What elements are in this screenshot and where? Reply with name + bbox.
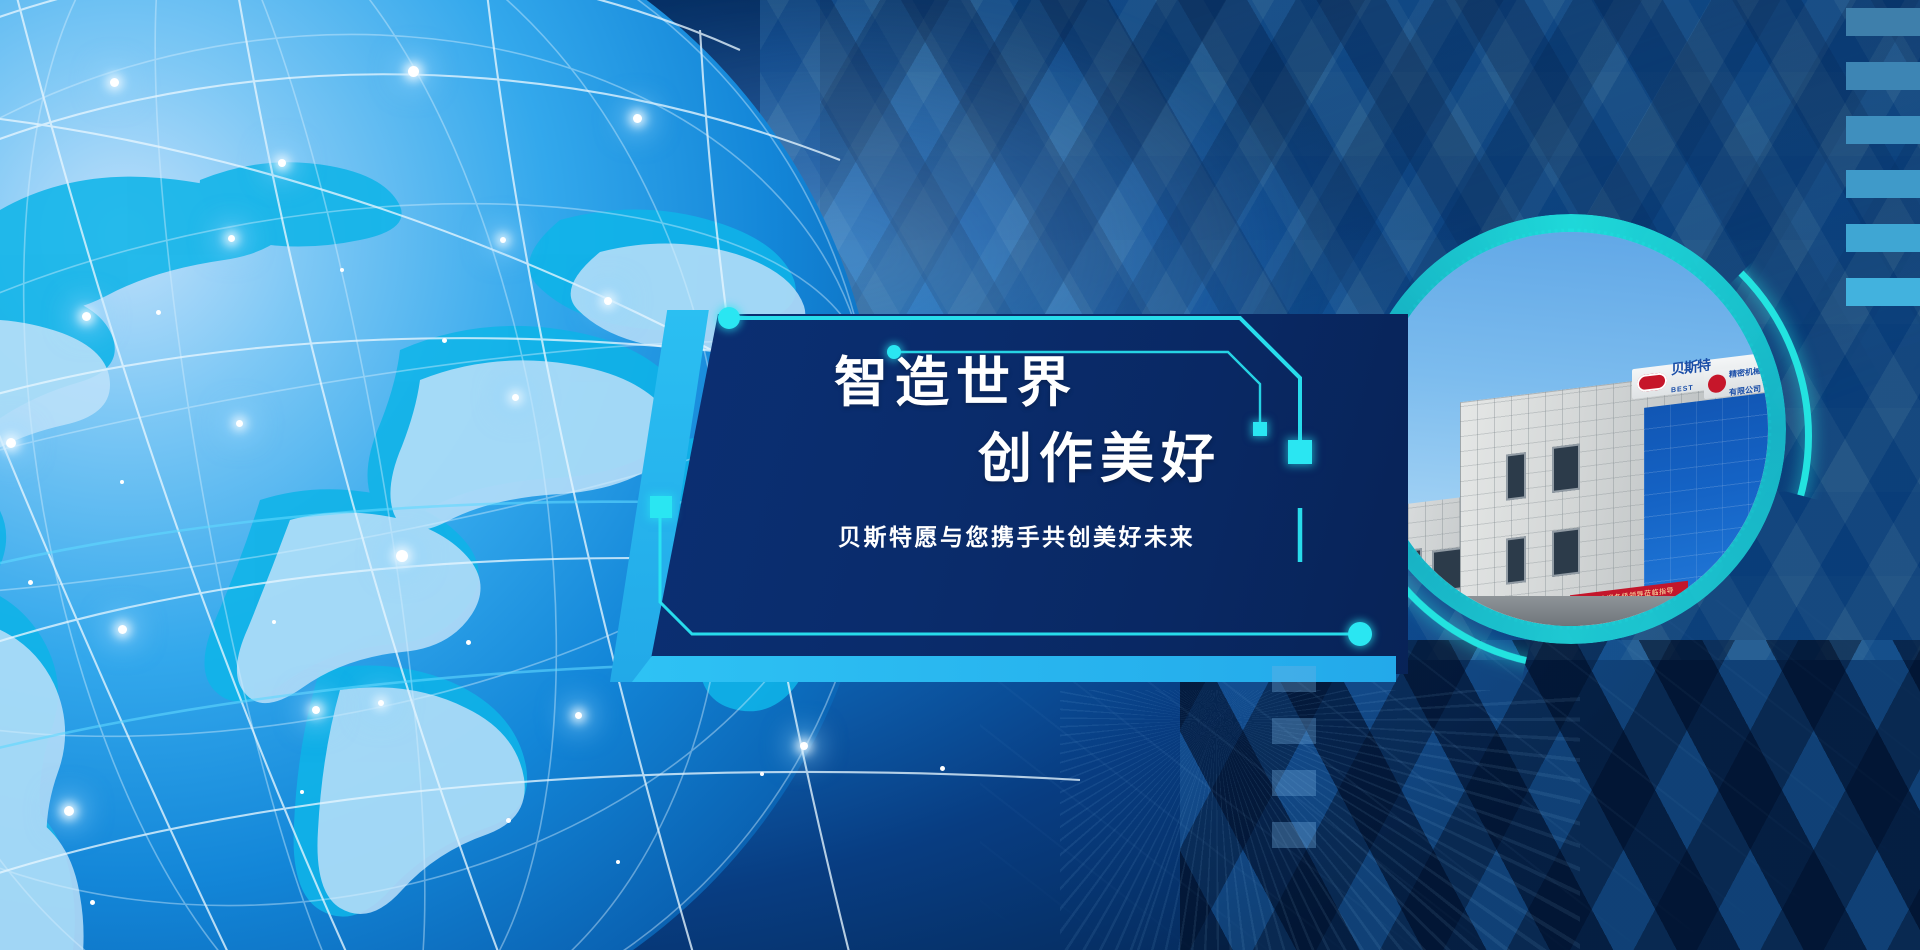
headline-subtitle: 贝斯特愿与您携手共创美好未来 — [838, 526, 1195, 549]
headline-text-block: 智造世界 创作美好 贝斯特愿与您携手共创美好未来 — [648, 314, 1408, 674]
right-bar-3 — [1846, 116, 1920, 144]
bottom-dash-2 — [1272, 718, 1316, 744]
right-bar-1 — [1846, 8, 1920, 36]
right-bar-2 — [1846, 62, 1920, 90]
radial-fan-lines — [1060, 690, 1580, 950]
building-photo-image: 贝斯特 BEST 精密机械 有限公司 热烈欢迎各级领导莅临指导 — [1374, 232, 1768, 626]
bottom-dash-3 — [1272, 770, 1316, 796]
brand-logo-mark-round — [1708, 374, 1726, 394]
building-sign-en: BEST — [1671, 385, 1694, 395]
bottom-dash-4 — [1272, 822, 1316, 848]
hero-banner: 贝斯特 BEST 精密机械 有限公司 热烈欢迎各级领导莅临指导 — [0, 0, 1920, 950]
right-edge-bar-stack — [1846, 8, 1920, 306]
right-bar-6 — [1846, 278, 1920, 306]
photo-ground — [1374, 596, 1768, 626]
headline-line-2: 创作美好 — [978, 432, 1222, 486]
bottom-dash-stack — [1272, 666, 1316, 848]
building-sign-sec-line2: 有限公司 — [1729, 384, 1761, 397]
brand-logo-mark — [1637, 371, 1667, 392]
right-bar-5 — [1846, 224, 1920, 252]
bottom-dash-1 — [1272, 666, 1316, 692]
headline-line-1: 智造世界 — [834, 356, 1078, 410]
right-bar-4 — [1846, 170, 1920, 198]
building-sign-sec-line1: 精密机械 — [1729, 366, 1761, 379]
